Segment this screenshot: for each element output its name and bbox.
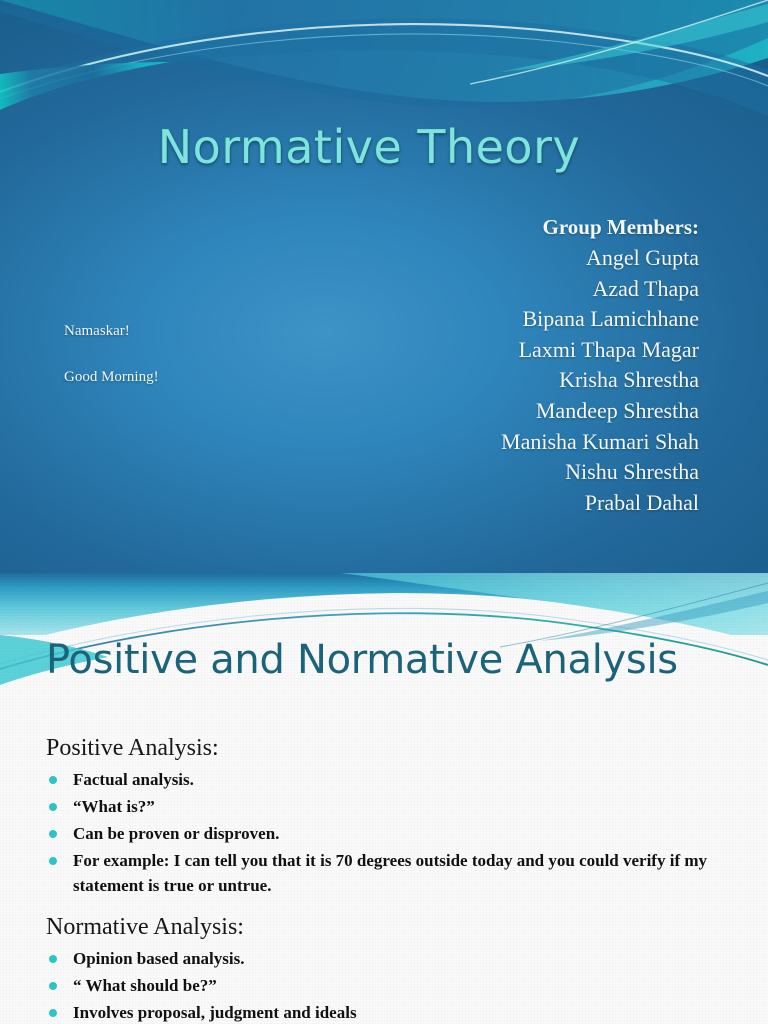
greetings-block: Namaskar! Good Morning!: [64, 308, 159, 400]
bullet-text: For example: I can tell you that it is 7…: [73, 851, 707, 895]
section-normative-analysis: Normative Analysis: Opinion based analys…: [46, 912, 736, 1024]
bullet-dot-icon: [49, 803, 57, 811]
bullet-text: Can be proven or disproven.: [73, 824, 279, 843]
bullet-text: Involves proposal, judgment and ideals: [73, 1003, 357, 1022]
bullet-item: “What is?”: [46, 795, 736, 820]
bullet-item: For example: I can tell you that it is 7…: [46, 849, 736, 898]
bullet-text: “ What should be?”: [73, 976, 217, 995]
group-members-block: Group Members: Angel Gupta Azad Thapa Bi…: [501, 212, 699, 518]
member-name: Azad Thapa: [501, 274, 699, 305]
bullet-text: Opinion based analysis.: [73, 949, 245, 968]
member-name: Mandeep Shrestha: [501, 396, 699, 427]
section-title: Positive Analysis:: [46, 733, 736, 763]
bullet-dot-icon: [49, 830, 57, 838]
bullet-dot-icon: [49, 776, 57, 784]
bullet-dot-icon: [49, 955, 57, 963]
presentation-page: Normative Theory Namaskar! Good Morning!…: [0, 0, 768, 1024]
bullet-item: Involves proposal, judgment and ideals: [46, 1001, 736, 1024]
member-name: Nishu Shrestha: [501, 457, 699, 488]
slide-title-page: Normative Theory Namaskar! Good Morning!…: [0, 0, 768, 573]
member-name: Prabal Dahal: [501, 488, 699, 519]
section-positive-analysis: Positive Analysis: Factual analysis. “Wh…: [46, 733, 736, 901]
bullet-list: Factual analysis. “What is?” Can be prov…: [46, 768, 736, 898]
bullet-dot-icon: [49, 857, 57, 865]
member-name: Manisha Kumari Shah: [501, 427, 699, 458]
bullet-item: Can be proven or disproven.: [46, 822, 736, 847]
member-name: Bipana Lamichhane: [501, 304, 699, 335]
bullet-item: Factual analysis.: [46, 768, 736, 793]
bullet-list: Opinion based analysis. “ What should be…: [46, 947, 736, 1024]
slide2-heading: Positive and Normative Analysis: [46, 637, 678, 683]
bullet-item: Opinion based analysis.: [46, 947, 736, 972]
bullet-text: Factual analysis.: [73, 770, 194, 789]
bullet-dot-icon: [49, 982, 57, 990]
member-name: Laxmi Thapa Magar: [501, 335, 699, 366]
slide-content-page: Positive and Normative Analysis Positive…: [0, 573, 768, 1024]
bullet-item: “ What should be?”: [46, 974, 736, 999]
bullet-dot-icon: [49, 1009, 57, 1017]
section-title: Normative Analysis:: [46, 912, 736, 942]
group-members-heading: Group Members:: [501, 212, 699, 242]
slide1-title: Normative Theory: [0, 120, 738, 174]
bullet-text: “What is?”: [73, 797, 155, 816]
greeting-namaskar: Namaskar!: [64, 308, 159, 354]
member-name: Angel Gupta: [501, 243, 699, 274]
greeting-good-morning: Good Morning!: [64, 354, 159, 400]
member-name: Krisha Shrestha: [501, 365, 699, 396]
